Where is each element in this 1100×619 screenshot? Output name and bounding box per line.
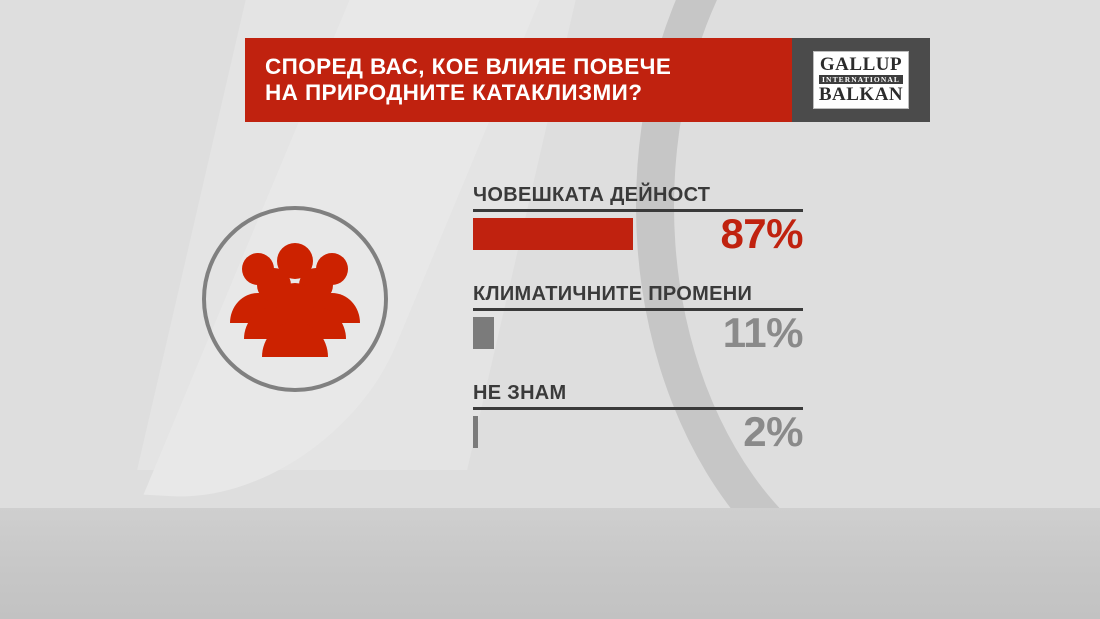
result-label: ЧОВЕШКАТА ДЕЙНОСТ <box>473 184 803 206</box>
result-bar <box>473 317 494 349</box>
page-title: СПОРЕД ВАС, КОЕ ВЛИЯЕ ПОВЕЧЕ НА ПРИРОДНИ… <box>245 38 792 122</box>
infographic-stage: СПОРЕД ВАС, КОЕ ВЛИЯЕ ПОВЕЧЕ НА ПРИРОДНИ… <box>0 0 1100 619</box>
result-label: НЕ ЗНАМ <box>473 382 803 404</box>
logo-text-gallup: GALLUP <box>819 55 903 74</box>
result-bar-area: 11% <box>473 314 803 356</box>
logo-text-balkan: BALKAN <box>819 85 903 104</box>
result-bar-area: 2% <box>473 413 803 455</box>
result-row: КЛИМАТИЧНИТЕ ПРОМЕНИ 11% <box>473 283 803 356</box>
results-list: ЧОВЕШКАТА ДЕЙНОСТ 87% КЛИМАТИЧНИТЕ ПРОМЕ… <box>473 184 803 455</box>
result-bar <box>473 218 633 250</box>
background-bottom-band <box>0 508 1100 619</box>
result-bar-area: 87% <box>473 215 803 257</box>
gallup-logo: GALLUP INTERNATIONAL BALKAN <box>813 51 909 110</box>
result-row: НЕ ЗНАМ 2% <box>473 382 803 455</box>
result-row: ЧОВЕШКАТА ДЕЙНОСТ 87% <box>473 184 803 257</box>
header-banner: СПОРЕД ВАС, КОЕ ВЛИЯЕ ПОВЕЧЕ НА ПРИРОДНИ… <box>245 38 930 122</box>
brand-logo-panel: GALLUP INTERNATIONAL BALKAN <box>792 38 930 122</box>
result-value: 11% <box>723 311 803 355</box>
people-group-icon-circle <box>202 206 388 392</box>
result-value: 2% <box>743 410 803 454</box>
page-title-line-1: СПОРЕД ВАС, КОЕ ВЛИЯЕ ПОВЕЧЕ <box>265 54 792 80</box>
logo-text-international: INTERNATIONAL <box>819 75 903 85</box>
people-group-icon <box>220 239 370 359</box>
result-bar <box>473 416 478 448</box>
result-label: КЛИМАТИЧНИТЕ ПРОМЕНИ <box>473 283 803 305</box>
page-title-line-2: НА ПРИРОДНИТЕ КАТАКЛИЗМИ? <box>265 80 792 106</box>
result-value: 87% <box>720 212 803 256</box>
